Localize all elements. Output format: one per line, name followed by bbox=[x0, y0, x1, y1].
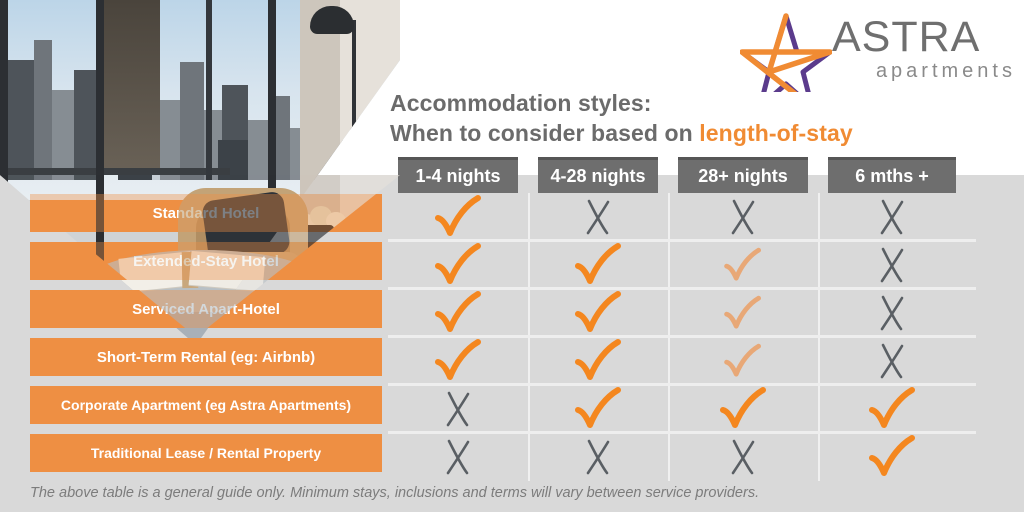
check-icon bbox=[431, 338, 485, 384]
cell-r4-c3 bbox=[668, 337, 818, 385]
check-icon bbox=[571, 386, 625, 432]
cell-r2-c3 bbox=[668, 241, 818, 289]
brand-name-primary: ASTRA bbox=[832, 16, 1018, 59]
cross-icon bbox=[441, 389, 475, 429]
check-icon bbox=[571, 338, 625, 384]
title-line-2: When to consider based on length-of-stay bbox=[390, 118, 950, 148]
check-icon bbox=[865, 434, 919, 480]
brand-name-secondary: apartments bbox=[832, 59, 1018, 83]
footer-disclaimer: The above table is a general guide only.… bbox=[30, 485, 930, 501]
check-faded-icon bbox=[721, 343, 764, 380]
column-header-2: 4-28 nights bbox=[538, 157, 658, 193]
cross-icon bbox=[581, 197, 615, 237]
cell-r2-c2 bbox=[528, 241, 668, 289]
cell-r5-c2 bbox=[528, 385, 668, 433]
cross-icon bbox=[581, 437, 615, 477]
cross-icon bbox=[875, 197, 909, 237]
column-header-3: 28+ nights bbox=[678, 157, 808, 193]
cell-r1-c2 bbox=[528, 193, 668, 241]
cell-r1-c3 bbox=[668, 193, 818, 241]
title-highlight: length-of-stay bbox=[699, 120, 852, 146]
brand-wordmark: ASTRA apartments bbox=[832, 16, 1018, 83]
table-column-headers: 1-4 nights4-28 nights28+ nights6 mths + bbox=[388, 157, 976, 193]
cell-r6-c1 bbox=[388, 433, 528, 481]
cell-r6-c3 bbox=[668, 433, 818, 481]
cell-r3-c1 bbox=[388, 289, 528, 337]
cell-r1-c4 bbox=[818, 193, 966, 241]
check-icon bbox=[431, 242, 485, 288]
title-line-2-prefix: When to consider based on bbox=[390, 120, 699, 146]
cell-r3-c4 bbox=[818, 289, 966, 337]
cross-icon bbox=[441, 437, 475, 477]
cross-icon bbox=[875, 245, 909, 285]
cell-r4-c4 bbox=[818, 337, 966, 385]
title-line-1: Accommodation styles: bbox=[390, 88, 950, 118]
cross-icon bbox=[875, 341, 909, 381]
infographic-canvas: Accommodation styles: When to consider b… bbox=[0, 0, 1024, 512]
page-title: Accommodation styles: When to consider b… bbox=[390, 88, 950, 149]
brand-logo: ASTRA apartments bbox=[740, 10, 1018, 92]
column-header-4: 6 mths + bbox=[828, 157, 956, 193]
cell-r4-c1 bbox=[388, 337, 528, 385]
row-label-5: Corporate Apartment (eg Astra Apartments… bbox=[30, 386, 382, 424]
cell-r4-c2 bbox=[528, 337, 668, 385]
check-icon bbox=[865, 386, 919, 432]
cross-icon bbox=[726, 197, 760, 237]
check-icon bbox=[716, 386, 770, 432]
table-body-grid bbox=[388, 193, 976, 481]
cell-r2-c4 bbox=[818, 241, 966, 289]
cell-r2-c1 bbox=[388, 241, 528, 289]
cell-r3-c2 bbox=[528, 289, 668, 337]
cross-icon bbox=[875, 293, 909, 333]
check-faded-icon bbox=[721, 247, 764, 284]
check-faded-icon bbox=[721, 295, 764, 332]
cell-r6-c2 bbox=[528, 433, 668, 481]
cell-r1-c1 bbox=[388, 193, 528, 241]
column-header-1: 1-4 nights bbox=[398, 157, 518, 193]
cross-icon bbox=[726, 437, 760, 477]
check-icon bbox=[571, 290, 625, 336]
cell-r6-c4 bbox=[818, 433, 966, 481]
cell-r5-c3 bbox=[668, 385, 818, 433]
check-icon bbox=[431, 290, 485, 336]
row-label-4: Short-Term Rental (eg: Airbnb) bbox=[30, 338, 382, 376]
cell-r5-c1 bbox=[388, 385, 528, 433]
astra-star-icon bbox=[740, 12, 832, 92]
cell-r3-c3 bbox=[668, 289, 818, 337]
cell-r5-c4 bbox=[818, 385, 966, 433]
row-label-6: Traditional Lease / Rental Property bbox=[30, 434, 382, 472]
check-icon bbox=[571, 242, 625, 288]
check-icon bbox=[431, 194, 485, 240]
